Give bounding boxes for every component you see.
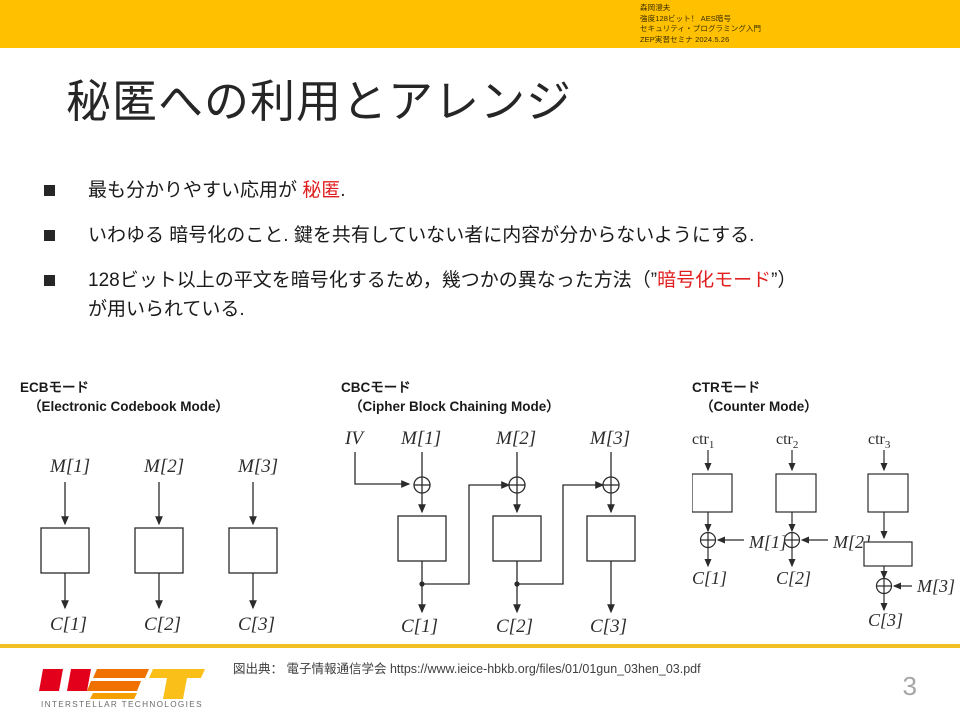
bullet-3-text: 128ビット以上の平文を暗号化するため，幾つかの異なった方法（” <box>88 270 657 291</box>
logo-mark-icon: INTERSTELLAR TECHNOLOGIES <box>37 665 213 709</box>
cbc-box-3 <box>587 516 635 561</box>
ctr-msb-box <box>864 542 912 566</box>
ctr-output-3: C[3] <box>868 610 903 630</box>
ecb-output-2: C[2] <box>144 614 181 635</box>
ecb-canvas: M[1] E K C[1] M[2] E K C[2] M[3] E K C[3… <box>20 450 330 635</box>
header-meta-line-1: 森岡澄夫 <box>640 3 820 14</box>
ctr-box-2 <box>776 474 816 512</box>
ecb-input-2: M[2] <box>143 456 184 477</box>
cbc-canvas: IV M[1] M[2] M[3] E K E K E K C[1] C[2] … <box>341 422 671 637</box>
bullet-item-3: 128ビット以上の平文を暗号化するため，幾つかの異なった方法（”暗号化モード”）… <box>40 266 930 324</box>
bullet-marker-icon <box>44 185 55 196</box>
cbc-output-3: C[3] <box>590 616 627 637</box>
footer-divider <box>0 644 960 648</box>
diagram-ctr: CTRモード （Counter Mode） ctr1 ctr2 ctr3 E <box>692 378 960 631</box>
page-number: 3 <box>903 671 917 702</box>
bullet-marker-icon <box>44 275 55 286</box>
cbc-output-2: C[2] <box>496 616 533 637</box>
cbc-figure: IV M[1] M[2] M[3] E K E K E K C[1] C[2] … <box>341 422 661 637</box>
cbc-iv-path <box>355 452 409 484</box>
slide-canvas: 森岡澄夫 強度128ビット！ AES暗号 セキュリティ・プログラミング入門 ZE… <box>0 0 960 720</box>
header-meta-line-4: ZEP実習セミナ 2024.5.26 <box>640 35 820 46</box>
diagram-ecb: ECBモード （Electronic Codebook Mode） M[1] E… <box>20 378 330 635</box>
bullet-item-2: いわゆる 暗号化のこと. 鍵を共有していない者に内容が分からないようにする. <box>40 221 930 250</box>
ctr-box-1 <box>692 474 732 512</box>
ctr-message-1: M[1] <box>748 532 787 552</box>
ctr-box-3 <box>868 474 908 512</box>
ecb-input-3: M[3] <box>237 456 278 477</box>
interstellar-technologies-logo: INTERSTELLAR TECHNOLOGIES <box>37 665 213 709</box>
cbc-input-2: M[2] <box>495 428 536 449</box>
bullet-1-accent: 秘匿 <box>302 180 340 201</box>
bullet-1-post: . <box>340 180 345 201</box>
ecb-output-3: C[3] <box>238 614 275 635</box>
header-meta: 森岡澄夫 強度128ビット！ AES暗号 セキュリティ・プログラミング入門 ZE… <box>640 3 820 45</box>
ecb-output-1: C[1] <box>50 614 87 635</box>
ecb-figure: M[1] E K C[1] M[2] E K C[2] M[3] E K C[3… <box>20 450 320 635</box>
ctr-title-jp: CTRモード <box>692 380 760 395</box>
page-title: 秘匿への利用とアレンジ <box>66 74 572 130</box>
bullet-1-text: 最も分かりやすい応用が <box>88 180 302 201</box>
cbc-output-1: C[1] <box>401 616 438 637</box>
ecb-box-2 <box>135 528 183 573</box>
header-band: 森岡澄夫 強度128ビット！ AES暗号 セキュリティ・プログラミング入門 ZE… <box>0 0 960 48</box>
logo-wordmark: INTERSTELLAR TECHNOLOGIES <box>41 700 203 709</box>
ctr-caption: CTRモード （Counter Mode） <box>692 378 960 416</box>
bullet-item-1: 最も分かりやすい応用が 秘匿. <box>40 176 930 205</box>
ctr-output-1: C[1] <box>692 568 727 588</box>
cbc-box-1 <box>398 516 446 561</box>
cbc-box-2 <box>493 516 541 561</box>
diagram-cbc: CBCモード （Cipher Block Chaining Mode） IV M… <box>341 378 671 637</box>
cbc-input-1: M[1] <box>400 428 441 449</box>
ecb-box-3 <box>229 528 277 573</box>
ctr-counter-1: ctr1 <box>692 431 714 451</box>
footer-source-text: 図出典： 電子情報通信学会 https://www.ieice-hbkb.org… <box>233 658 701 677</box>
cbc-iv-label: IV <box>344 428 365 449</box>
ecb-title-en: （Electronic Codebook Mode） <box>20 397 330 416</box>
cbc-caption: CBCモード （Cipher Block Chaining Mode） <box>341 378 671 416</box>
ctr-message-3: M[3] <box>916 576 955 596</box>
bullet-3-line2: が用いられている. <box>88 295 930 324</box>
ecb-input-1: M[1] <box>49 456 90 477</box>
bullet-marker-icon <box>44 230 55 241</box>
ctr-counter-2: ctr2 <box>776 431 798 451</box>
ctr-output-2: C[2] <box>776 568 811 588</box>
cbc-title-en: （Cipher Block Chaining Mode） <box>341 397 671 416</box>
cbc-title-jp: CBCモード <box>341 380 411 395</box>
ecb-title-jp: ECBモード <box>20 380 89 395</box>
ecb-box-1 <box>41 528 89 573</box>
bullet-list: 最も分かりやすい応用が 秘匿. いわゆる 暗号化のこと. 鍵を共有していない者に… <box>40 176 930 340</box>
header-meta-line-3: セキュリティ・プログラミング入門 <box>640 24 820 35</box>
cbc-input-3: M[3] <box>589 428 630 449</box>
ctr-counter-3: ctr3 <box>868 431 891 451</box>
ctr-canvas: ctr1 ctr2 ctr3 E K E K E K M[1] M[2] M[3… <box>692 426 960 631</box>
bullet-2-text: いわゆる 暗号化のこと. 鍵を共有していない者に内容が分からないようにする. <box>88 225 754 246</box>
bullet-3-post: ”） <box>771 270 796 291</box>
ctr-title-en: （Counter Mode） <box>692 397 960 416</box>
bullet-3-accent: 暗号化モード <box>657 270 771 291</box>
ecb-caption: ECBモード （Electronic Codebook Mode） <box>20 378 330 416</box>
ctr-figure: ctr1 ctr2 ctr3 E K E K E K M[1] M[2] M[3… <box>692 426 960 631</box>
header-meta-line-2: 強度128ビット！ AES暗号 <box>640 14 820 25</box>
